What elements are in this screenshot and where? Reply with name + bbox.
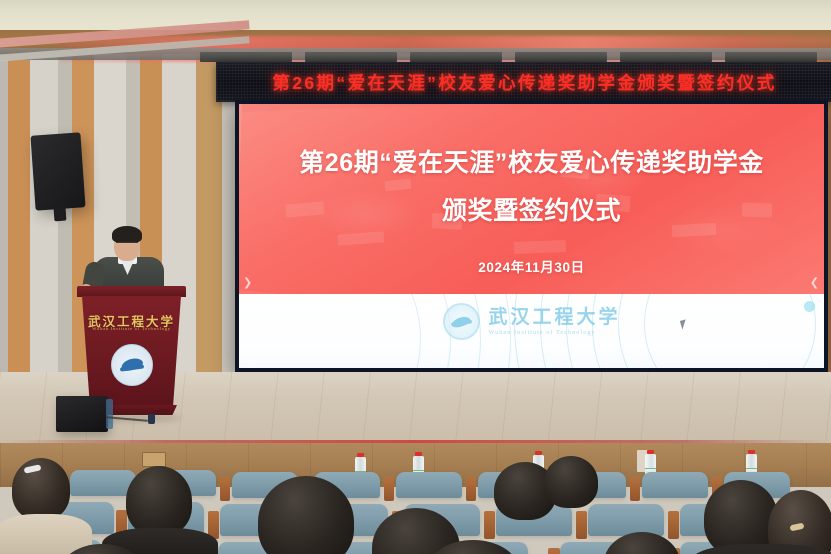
auditorium-photo: 第26期“爱在天涯”校友爱心传递奖助学金颁奖暨签约仪式 第26期“爱在天涯”校友… xyxy=(0,0,831,554)
screen-logo-text-en: Wuhan Institute of Technology xyxy=(488,330,620,336)
university-emblem-icon xyxy=(442,303,479,340)
ceiling-rail-segment xyxy=(305,52,397,62)
audience-head xyxy=(604,532,680,554)
ceiling-rail-segment xyxy=(515,52,607,62)
wall-speaker-icon xyxy=(30,132,85,210)
ceiling-rail-segment xyxy=(725,52,817,62)
speaker-hair xyxy=(112,226,142,243)
audience-members xyxy=(0,440,831,554)
projection-screen-frame: 第26期“爱在天涯”校友爱心传递奖助学金 颁奖暨签约仪式 2024年11月30日… xyxy=(235,100,828,372)
screen-title-line1: 第26期“爱在天涯”校友爱心传递奖助学金 xyxy=(239,143,824,179)
led-banner-text: 第26期“爱在天涯”校友爱心传递奖助学金颁奖暨签约仪式 xyxy=(272,70,776,95)
floor-monitor-speaker xyxy=(56,396,108,432)
screen-logo-text-cn: 武汉工程大学 xyxy=(488,308,620,327)
ceiling-rail-segment xyxy=(410,52,502,62)
podium-body: 武汉工程大学 Wuhan Institute of Technology xyxy=(82,296,181,406)
podium-emblem-icon xyxy=(111,344,153,386)
chevron-left-icon: ❮ xyxy=(810,276,819,289)
ceiling-rail-segment xyxy=(620,52,712,62)
podium-text-en: Wuhan Institute of Technology xyxy=(82,326,181,331)
screen-university-logo: 武汉工程大学 Wuhan Institute of Technology xyxy=(442,303,620,340)
screen-red-area: 第26期“爱在天涯”校友爱心传递奖助学金 颁奖暨签约仪式 2024年11月30日… xyxy=(239,104,824,294)
audience-head xyxy=(258,476,354,554)
projection-screen: 第26期“爱在天涯”校友爱心传递奖助学金 颁奖暨签约仪式 2024年11月30日… xyxy=(239,104,824,368)
glasses-icon xyxy=(116,242,138,248)
audience-head xyxy=(544,456,598,508)
led-scrolling-banner: 第26期“爱在天涯”校友爱心传递奖助学金颁奖暨签约仪式 xyxy=(216,62,831,102)
ceiling-rail-segment xyxy=(200,52,292,62)
chevron-right-icon: ❯ xyxy=(243,276,252,289)
screen-title-line2: 颁奖暨签约仪式 xyxy=(239,191,824,227)
audience-head xyxy=(704,480,778,554)
screen-date: 2024年11月30日 xyxy=(239,256,824,276)
audience-head xyxy=(126,466,192,536)
teal-dot-decoration xyxy=(804,301,815,312)
floor-power-outlet xyxy=(148,414,155,424)
podium-top xyxy=(77,286,186,297)
